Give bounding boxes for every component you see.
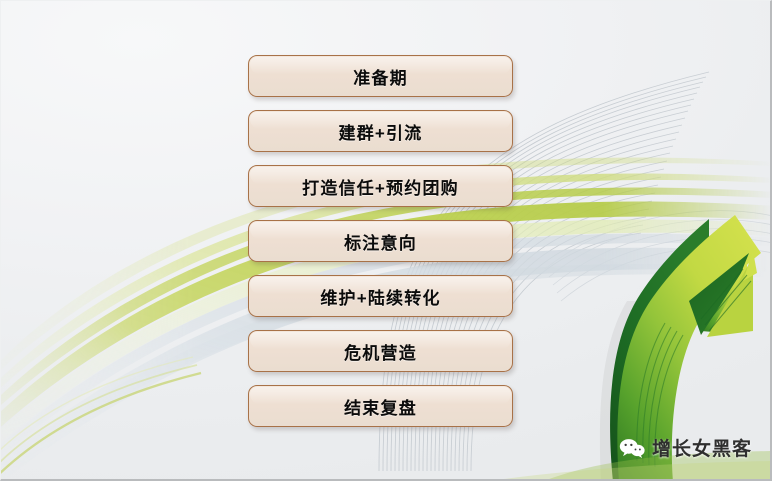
arrow-tip	[743, 251, 757, 281]
arrow-base-glow-2	[481, 461, 772, 481]
flow-step-5[interactable]: 维护+陆续转化	[248, 275, 513, 317]
wechat-icon	[619, 437, 645, 459]
flow-step-7[interactable]: 结束复盘	[248, 385, 513, 427]
process-flow-list: 准备期 建群+引流 打造信任+预约团购 标注意向 维护+陆续转化 危机营造 结束…	[248, 55, 513, 427]
flow-step-label: 标注意向	[344, 229, 417, 254]
flow-step-label: 危机营造	[344, 339, 417, 364]
flow-step-label: 打造信任+预约团购	[302, 174, 459, 199]
flow-step-label: 维护+陆续转化	[320, 284, 440, 309]
arrow-head-light	[701, 259, 747, 333]
arrow-head-wing	[707, 257, 753, 337]
flow-step-label: 建群+引流	[339, 119, 423, 144]
arrow-head-dark	[689, 253, 749, 335]
slide-canvas: 准备期 建群+引流 打造信任+预约团购 标注意向 维护+陆续转化 危机营造 结束…	[0, 0, 772, 481]
watermark: 增长女黑客	[619, 434, 752, 461]
arrow-head-streaks	[701, 269, 751, 331]
flow-step-3[interactable]: 打造信任+预约团购	[248, 165, 513, 207]
flow-step-2[interactable]: 建群+引流	[248, 110, 513, 152]
flow-step-label: 结束复盘	[344, 394, 417, 419]
watermark-text: 增长女黑客	[652, 434, 752, 461]
flow-step-1[interactable]: 准备期	[248, 55, 513, 97]
flow-step-6[interactable]: 危机营造	[248, 330, 513, 372]
upper-right-arcs	[545, 211, 772, 301]
flow-step-4[interactable]: 标注意向	[248, 220, 513, 262]
bottom-left-strands	[1, 357, 201, 481]
flow-step-label: 准备期	[353, 64, 408, 89]
